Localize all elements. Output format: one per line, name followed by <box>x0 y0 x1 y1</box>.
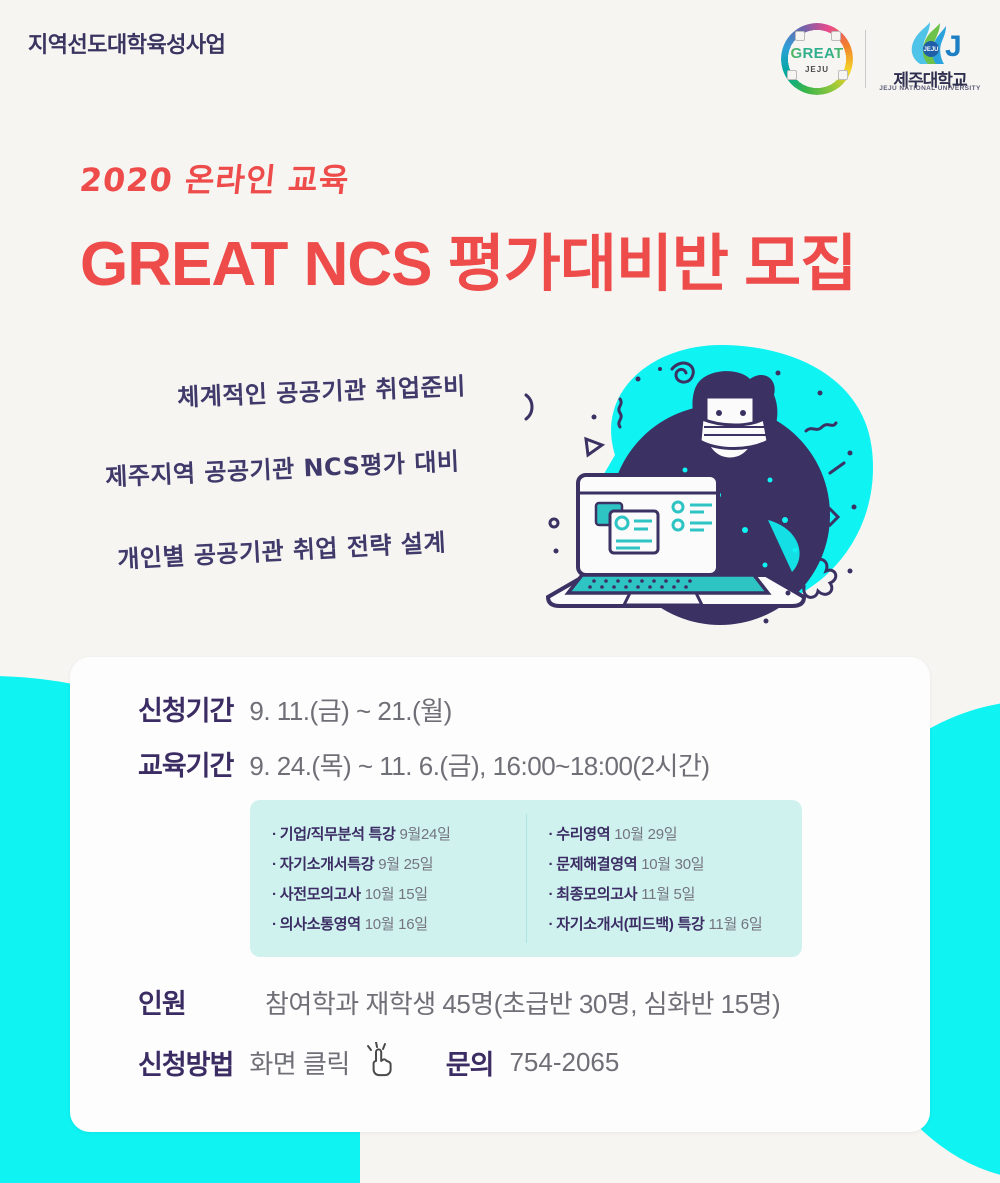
bullet-icon: · <box>549 856 554 873</box>
schedule-item: ·사전모의고사10월 15일 <box>272 883 522 904</box>
great-ring-node-icon <box>831 31 841 41</box>
schedule-box: ·기업/직무분석 특강9월24일 ·자기소개서특강9월 25일 ·사전모의고사1… <box>250 800 802 957</box>
schedule-column-right: ·수리영역10월 29일 ·문제해결영역10월 30일 ·최종모의고사11월 5… <box>526 814 803 943</box>
apply-period-label: 신청기간 <box>138 689 233 728</box>
pointing-hand-click-icon[interactable] <box>364 1042 398 1083</box>
great-jeju-logo: GREAT JEJU <box>781 23 853 95</box>
schedule-item: ·자기소개서(피드백) 특강11월 6일 <box>549 913 799 934</box>
great-logo-text: GREAT <box>781 45 853 62</box>
title-block: 2020 온라인 교육 GREAT NCS 평가대비반 모집 <box>80 155 856 303</box>
schedule-item-date: 10월 16일 <box>365 916 428 933</box>
schedule-column-left: ·기업/직무분석 특강9월24일 ·자기소개서특강9월 25일 ·사전모의고사1… <box>250 814 526 943</box>
bullet-icon: · <box>272 886 277 903</box>
highlight-item: 개인별 공공기관 취업 전략 설계 <box>116 516 565 574</box>
poster-header: 지역선도대학육성사업 GREAT JEJU J JEJU <box>0 0 1000 110</box>
bullet-icon: · <box>272 856 277 873</box>
organization-name: 지역선도대학육성사업 <box>28 27 225 59</box>
highlight-item: 제주지역 공공기관 NCS평가 대비 <box>104 437 565 493</box>
apply-period-row: 신청기간 9. 11.(금) ~ 21.(월) <box>138 689 452 728</box>
jnu-name-en: JEJU NATIONAL UNIVERSITY <box>878 85 982 92</box>
schedule-item-date: 9월 25일 <box>378 856 433 873</box>
schedule-item: ·수리영역10월 29일 <box>549 823 799 844</box>
schedule-item-date: 10월 30일 <box>641 856 704 873</box>
inquiry-value: 754-2065 <box>509 1047 619 1078</box>
schedule-item-date: 11월 6일 <box>708 916 762 933</box>
logo-group: GREAT JEJU J JEJU 제주대학교 JEJU NATIONAL UN… <box>781 22 982 96</box>
schedule-item: ·자기소개서특강9월 25일 <box>272 853 522 874</box>
jnu-flame-icon: J JEJU <box>900 22 960 66</box>
bullet-icon: · <box>272 826 277 843</box>
bullet-icon: · <box>549 826 554 843</box>
page-title: GREAT NCS 평가대비반 모집 <box>80 213 856 303</box>
poster-root: 지역선도대학육성사업 GREAT JEJU J JEJU <box>0 0 1000 1183</box>
schedule-item-date: 11월 5일 <box>641 886 695 903</box>
schedule-item-name: 의사소통영역 <box>280 916 361 933</box>
svg-text:J: J <box>945 30 960 63</box>
how-to-apply-value: 화면 클릭 <box>249 1044 349 1081</box>
schedule-item: ·기업/직무분석 특강9월24일 <box>272 823 522 844</box>
bullet-icon: · <box>549 916 554 933</box>
capacity-label: 인원 <box>138 982 243 1021</box>
schedule-item: ·문제해결영역10월 30일 <box>549 853 799 874</box>
schedule-item-date: 10월 15일 <box>365 886 428 903</box>
highlight-item: 체계적인 공공기관 취업준비 <box>176 362 565 413</box>
edu-period-label: 교육기간 <box>138 744 233 783</box>
svg-text:JEJU: JEJU <box>923 47 938 53</box>
schedule-item-name: 자기소개서(피드백) 특강 <box>556 916 704 933</box>
bullet-icon: · <box>272 916 277 933</box>
great-ring-node-icon <box>795 31 805 41</box>
edu-period-value: 9. 24.(목) ~ 11. 6.(금), 16:00~18:00(2시간) <box>249 746 709 783</box>
highlight-list: 체계적인 공공기관 취업준비 제주지역 공공기관 NCS평가 대비 개인별 공공… <box>95 370 565 563</box>
schedule-item-name: 최종모의고사 <box>556 886 637 903</box>
how-to-apply-row: 신청방법 화면 클릭 문의 754-2065 <box>138 1042 619 1083</box>
subtitle: 2020 온라인 교육 <box>78 155 859 201</box>
schedule-item-name: 사전모의고사 <box>280 886 361 903</box>
schedule-item-name: 기업/직무분석 특강 <box>280 826 396 843</box>
schedule-item-name: 문제해결영역 <box>556 856 637 873</box>
schedule-item-date: 9월24일 <box>399 826 450 843</box>
schedule-item-name: 수리영역 <box>556 826 610 843</box>
edu-period-row: 교육기간 9. 24.(목) ~ 11. 6.(금), 16:00~18:00(… <box>138 744 710 783</box>
info-card: 신청기간 9. 11.(금) ~ 21.(월) 교육기간 9. 24.(목) ~… <box>70 657 930 1132</box>
capacity-row: 인원 참여학과 재학생 45명(초급반 30명, 심화반 15명) <box>138 982 780 1021</box>
capacity-value: 참여학과 재학생 45명(초급반 30명, 심화반 15명) <box>265 984 780 1021</box>
schedule-item-name: 자기소개서특강 <box>280 856 375 873</box>
how-to-apply-label: 신청방법 <box>138 1043 233 1082</box>
apply-period-value: 9. 11.(금) ~ 21.(월) <box>249 691 451 728</box>
schedule-item-date: 10월 29일 <box>614 826 677 843</box>
jeju-national-university-logo: J JEJU 제주대학교 JEJU NATIONAL UNIVERSITY <box>878 22 982 96</box>
logo-divider <box>865 30 866 88</box>
inquiry-label: 문의 <box>446 1043 494 1082</box>
schedule-item: ·최종모의고사11월 5일 <box>549 883 799 904</box>
masked-person-laptop-illustration <box>520 335 900 640</box>
great-logo-subtext: JEJU <box>781 65 853 74</box>
schedule-item: ·의사소통영역10월 16일 <box>272 913 522 934</box>
bullet-icon: · <box>549 886 554 903</box>
